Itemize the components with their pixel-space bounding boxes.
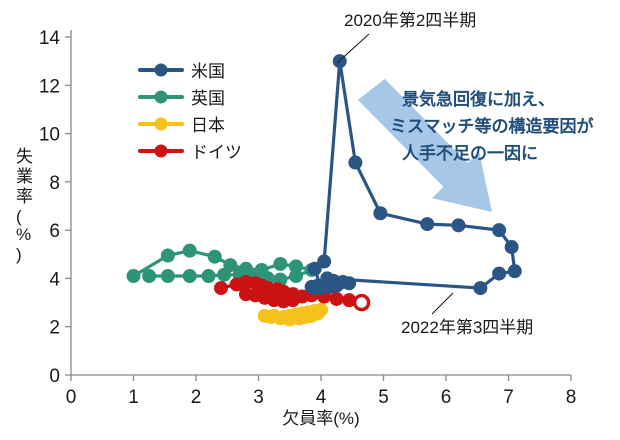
legend-marker-英国	[155, 91, 168, 104]
top-callout-label: 2020年第2四半期	[344, 11, 476, 30]
legend-marker-ドイツ	[155, 145, 168, 158]
data-point-米国	[452, 218, 466, 232]
data-point-米国	[373, 206, 387, 220]
y-tick-label: 4	[49, 269, 60, 290]
x-tick-label: 7	[503, 387, 514, 408]
series-英国	[127, 244, 319, 287]
y-tick-label: 6	[49, 221, 60, 242]
y-axis-title-char-6: )	[16, 245, 22, 264]
x-tick-label: 8	[566, 387, 577, 408]
x-tick-label: 2	[191, 387, 202, 408]
legend-item-米国[interactable]: 米国	[140, 62, 225, 81]
legend: 米国英国日本ドイツ	[140, 62, 242, 162]
data-point-米国	[342, 276, 356, 290]
data-point-英国	[289, 269, 303, 283]
insight-arrow-text: 景気急回復に加え、ミスマッチ等の構造要因が人手不足の一因に	[390, 89, 594, 163]
data-point-英国	[161, 269, 175, 283]
insight-text-line-2: ミスマッチ等の構造要因が	[390, 116, 594, 136]
data-point-ドイツ	[355, 296, 369, 310]
x-tick-label: 5	[378, 387, 389, 408]
x-axis-ticks: 012345678	[66, 375, 577, 408]
data-point-ドイツ	[330, 292, 344, 306]
legend-item-英国[interactable]: 英国	[140, 89, 225, 108]
x-tick-label: 3	[253, 387, 264, 408]
x-tick-label: 0	[66, 387, 77, 408]
legend-label-日本: 日本	[191, 116, 225, 135]
y-axis-title-char-2: 業	[16, 167, 33, 186]
legend-label-英国: 英国	[191, 89, 225, 108]
data-point-英国	[183, 244, 197, 258]
data-point-米国	[420, 217, 434, 231]
data-point-米国	[348, 156, 362, 170]
data-point-ドイツ	[214, 281, 228, 295]
y-axis-title-char-4: (	[16, 207, 22, 226]
insight-text-line-3: 人手不足の一因に	[402, 143, 538, 163]
data-point-米国	[508, 264, 522, 278]
y-tick-label: 0	[49, 366, 60, 387]
x-tick-label: 1	[128, 387, 139, 408]
chart-container: 02468101214 012345678 失 業 率 ( % ) 欠員率(%)…	[0, 0, 620, 440]
y-axis-title-char-5: %	[16, 225, 31, 244]
data-point-英国	[183, 269, 197, 283]
data-point-米国	[473, 281, 487, 295]
y-axis-ticks: 02468101214	[39, 28, 71, 387]
data-point-英国	[127, 269, 141, 283]
x-axis-title: 欠員率(%)	[282, 409, 359, 428]
x-tick-label: 4	[316, 387, 327, 408]
insight-arrow-icon	[358, 65, 492, 212]
data-point-英国	[161, 248, 175, 262]
y-tick-label: 12	[39, 76, 60, 97]
data-point-米国	[505, 240, 519, 254]
data-point-英国	[142, 269, 156, 283]
data-point-米国	[323, 280, 337, 294]
data-point-英国	[217, 268, 231, 282]
legend-item-ドイツ[interactable]: ドイツ	[140, 143, 242, 162]
x-tick-label: 6	[441, 387, 452, 408]
y-tick-label: 2	[49, 318, 60, 339]
legend-item-日本[interactable]: 日本	[140, 116, 225, 135]
data-point-米国	[317, 255, 331, 269]
y-tick-label: 8	[49, 173, 60, 194]
chart-svg: 02468101214 012345678 失 業 率 ( % ) 欠員率(%)…	[0, 0, 620, 440]
data-point-ドイツ	[239, 287, 253, 301]
y-tick-label: 14	[39, 28, 61, 49]
data-point-米国	[492, 267, 506, 281]
legend-label-ドイツ: ドイツ	[191, 143, 242, 162]
y-axis-title: 失 業 率 ( % )	[16, 147, 33, 264]
data-point-英国	[202, 269, 216, 283]
data-point-英国	[208, 250, 222, 264]
data-point-日本	[264, 310, 278, 324]
legend-label-米国: 米国	[191, 62, 225, 81]
top-callout-leader-line	[337, 34, 369, 63]
y-tick-label: 10	[39, 125, 60, 146]
bottom-callout-label: 2022年第3四半期	[401, 318, 533, 337]
data-point-米国	[492, 223, 506, 237]
y-axis-title-char-1: 失	[16, 147, 33, 166]
y-axis-title-char-3: 率	[16, 187, 33, 206]
legend-marker-日本	[155, 118, 168, 131]
data-point-英国	[273, 257, 287, 271]
insight-text-line-1: 景気急回復に加え、	[402, 89, 555, 109]
bottom-callout-leader-line	[432, 293, 453, 314]
legend-marker-米国	[155, 64, 168, 77]
